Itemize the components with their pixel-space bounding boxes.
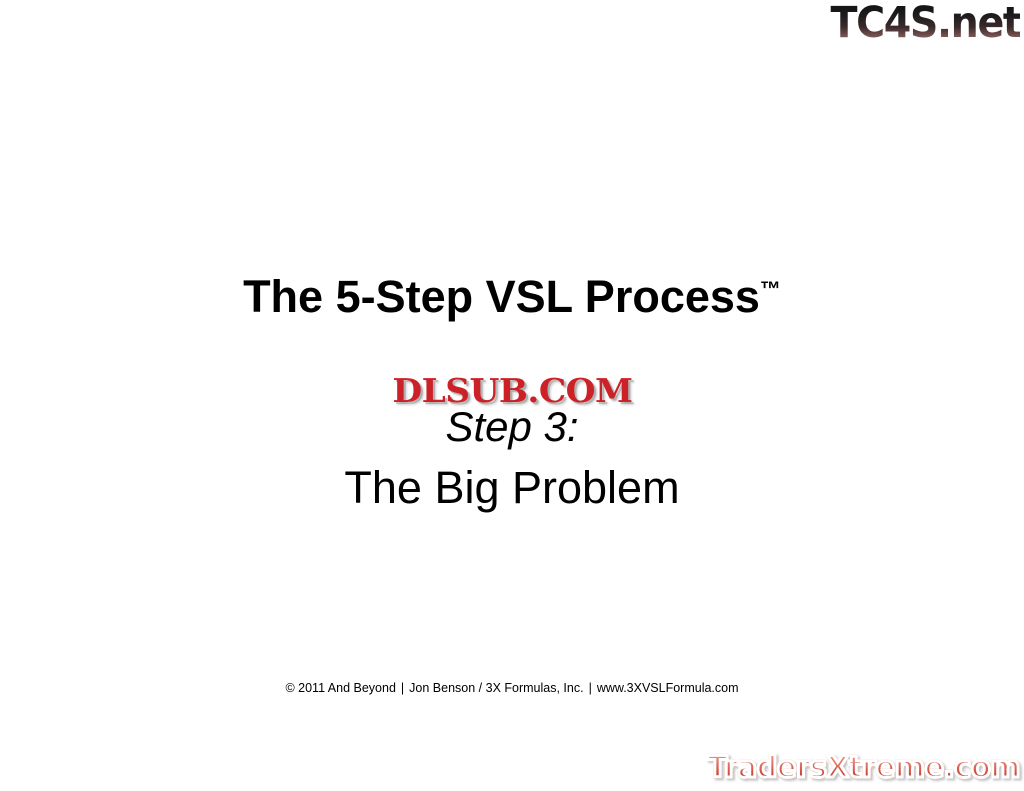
author-text: Jon Benson / 3X Formulas, Inc. <box>409 681 583 695</box>
page-title-text: The 5-Step VSL Process <box>243 271 760 322</box>
trademark-symbol: ™ <box>760 278 781 301</box>
tradersxtreme-watermark: TradersXtreme.com <box>708 752 1020 782</box>
step-label: Step 3: <box>0 406 1024 448</box>
footer-credit-line: © 2011 And Beyond|Jon Benson / 3X Formul… <box>0 682 1024 695</box>
copyright-text: © 2011 And Beyond <box>285 681 395 695</box>
tradersxtreme-watermark-text: TradersXtreme.com <box>708 752 1020 782</box>
page-title: The 5-Step VSL Process™ <box>0 274 1024 319</box>
step-name: The Big Problem <box>0 465 1024 510</box>
footer-separator-2: | <box>584 681 597 695</box>
footer-website: www.3XVSLFormula.com <box>597 681 739 695</box>
footer-separator-1: | <box>396 681 409 695</box>
presentation-slide: TC4S.net The 5-Step VSL Process™ DLSUB.C… <box>0 0 1024 791</box>
tc4s-net-logo: TC4S.net <box>830 2 1020 45</box>
